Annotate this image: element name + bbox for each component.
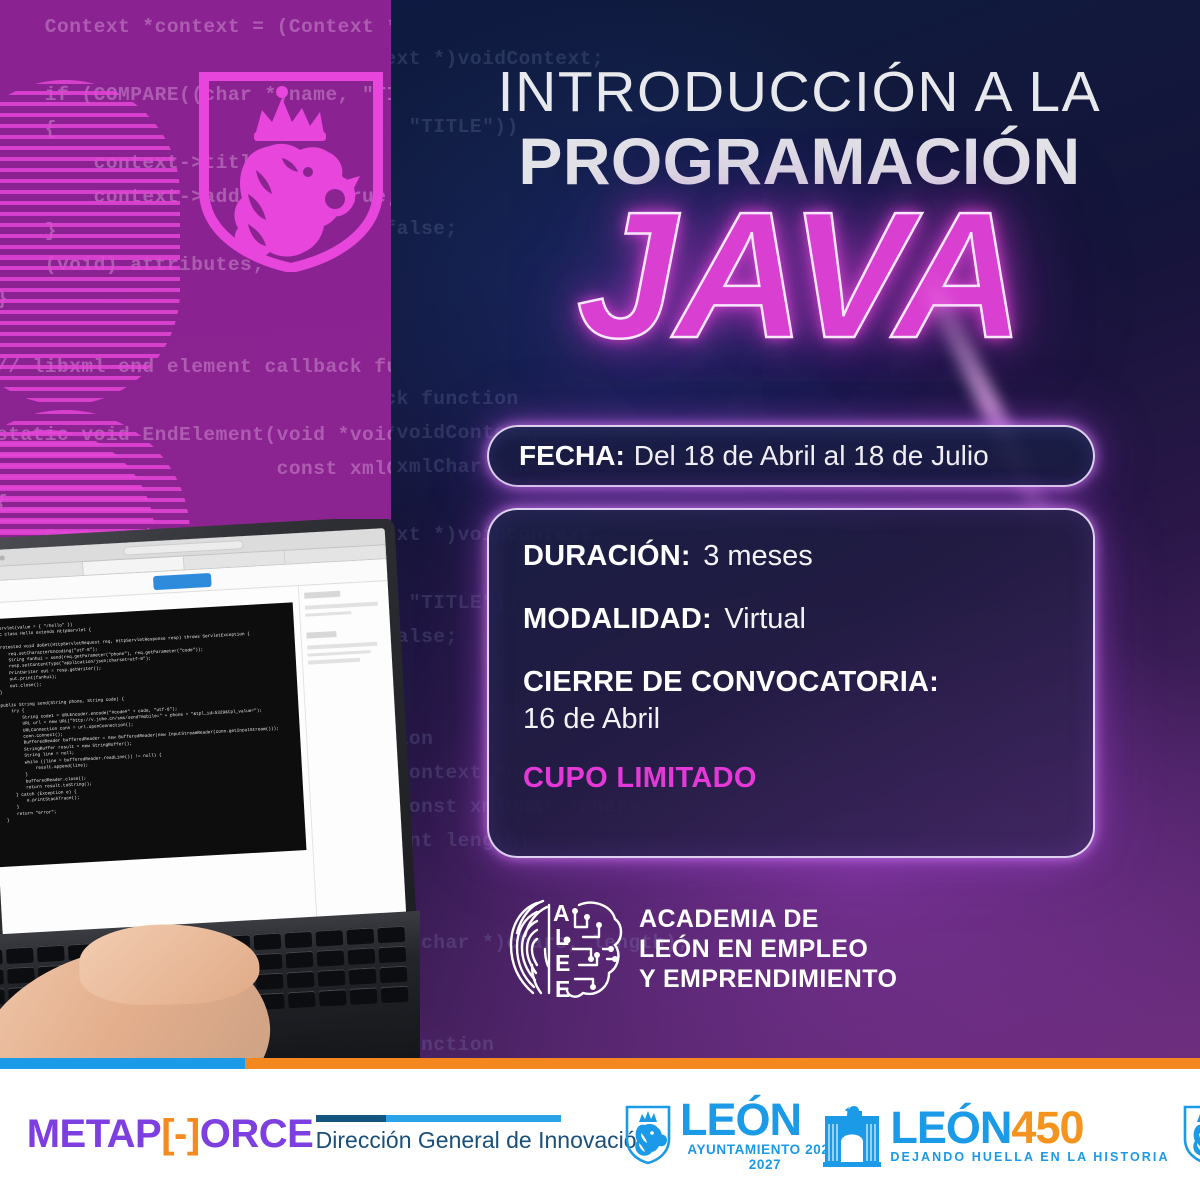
duracion-row: DURACIÓN: 3 meses xyxy=(523,540,1059,573)
fingerprint-brain-icon: A L E E xyxy=(503,893,623,1005)
modalidad-value: Virtual xyxy=(724,603,806,635)
leon-shield-lion-icon xyxy=(625,1105,671,1165)
leon450-shield-lion-icon xyxy=(1183,1105,1200,1165)
duracion-value: 3 meses xyxy=(703,540,813,572)
laptop-lid: @WebServlet(value = { "/hello" }) public… xyxy=(0,519,417,958)
metaphorce-post: ORCE xyxy=(200,1112,314,1156)
arch-monument-icon xyxy=(821,1102,883,1168)
modalidad-label: MODALIDAD: xyxy=(523,603,712,635)
leon450-logo: LEÓN450 DEJANDO HUELLA EN LA HISTORIA xyxy=(850,1102,1200,1168)
innovacion-text: Dirección General de Innovación xyxy=(316,1127,650,1154)
accent-bar-blue xyxy=(0,1058,245,1069)
duracion-label: DURACIÓN: xyxy=(523,540,691,572)
headline-block: INTRODUCCIÓN A LA PROGRAMACIÓN JAVA xyxy=(487,60,1112,364)
laptop-screen: @WebServlet(value = { "/hello" }) public… xyxy=(0,528,406,936)
metaphorce-logo: METAP[-]ORCE xyxy=(0,1112,340,1157)
code-editor-screenshot: @WebServlet(value = { "/hello" }) public… xyxy=(0,602,306,867)
fecha-panel: FECHA: Del 18 de Abril al 18 de Julio xyxy=(487,425,1095,487)
poster-root: { Context *context = (Context *)voidCont… xyxy=(0,0,1200,1200)
browser-sidebar xyxy=(298,581,406,919)
innovacion-bar xyxy=(316,1115,561,1122)
metaphorce-pre: METAP xyxy=(27,1112,162,1156)
cierre-row: CIERRE DE CONVOCATORIA: 16 de Abril xyxy=(523,666,1059,736)
browser-url-bar xyxy=(123,540,243,556)
browser-search-button xyxy=(153,573,212,590)
metaphorce-bracket: [-] xyxy=(161,1112,199,1156)
footer-logo-strip: METAP[-]ORCE Dirección General de Innova… xyxy=(0,1069,1200,1200)
browser-content: @WebServlet(value = { "/hello" }) public… xyxy=(0,581,406,936)
cierre-value: 16 de Abril xyxy=(523,703,1059,736)
leon450-subtitle: DEJANDO HUELLA EN LA HISTORIA xyxy=(890,1150,1169,1164)
leon-logo-block: LEÓN AYUNTAMIENTO 2024-2027 xyxy=(625,1098,850,1172)
code-editor-text: @WebServlet(value = { "/hello" }) public… xyxy=(0,611,299,833)
crowned-lion-shield-icon xyxy=(196,72,386,272)
fecha-value: Del 18 de Abril al 18 de Julio xyxy=(634,440,989,472)
innovacion-block: Dirección General de Innovación xyxy=(316,1115,650,1154)
leon450-text-block: LEÓN450 DEJANDO HUELLA EN LA HISTORIA xyxy=(890,1106,1169,1164)
alee-text-line-1: ACADEMIA DE xyxy=(639,904,897,934)
innovacion-logo: Dirección General de Innovación xyxy=(340,1115,625,1154)
cierre-label: CIERRE DE CONVOCATORIA: xyxy=(523,666,939,698)
alee-text-line-3: Y EMPRENDIMIENTO xyxy=(639,964,897,994)
details-panel: DURACIÓN: 3 meses MODALIDAD: Virtual CIE… xyxy=(487,508,1095,858)
metaphorce-wordmark: METAP[-]ORCE xyxy=(27,1112,314,1157)
leon450-name: LEÓN xyxy=(890,1102,1011,1153)
java-wordmark: JAVA xyxy=(577,186,1022,366)
accent-bar-orange xyxy=(245,1058,1200,1069)
alee-letter-a: A xyxy=(553,900,570,926)
alee-text-line-2: LEÓN EN EMPLEO xyxy=(639,934,897,964)
java-wordmark-wrap: JAVA xyxy=(487,194,1112,364)
accent-bar xyxy=(0,1058,1200,1069)
leon450-name-row: LEÓN450 xyxy=(890,1106,1169,1150)
headline-line-1: INTRODUCCIÓN A LA xyxy=(487,60,1112,124)
browser-main-column: @WebServlet(value = { "/hello" }) public… xyxy=(0,586,316,936)
alee-wordmark: ACADEMIA DE LEÓN EN EMPLEO Y EMPRENDIMIE… xyxy=(639,904,897,994)
leon-ayuntamiento-logo: LEÓN AYUNTAMIENTO 2024-2027 xyxy=(625,1098,850,1172)
leon450-logo-block: LEÓN450 DEJANDO HUELLA EN LA HISTORIA xyxy=(821,1102,1200,1168)
alee-letter-e1: E xyxy=(555,950,570,976)
cupo-limitado-text: CUPO LIMITADO xyxy=(523,762,757,794)
laptop-photo: @WebServlet(value = { "/hello" }) public… xyxy=(0,519,420,1058)
fecha-label: FECHA: xyxy=(519,440,625,472)
leon450-number: 450 xyxy=(1011,1102,1083,1153)
alee-letter-e2: E xyxy=(555,976,570,1002)
alee-logo: A L E E xyxy=(503,893,897,1005)
cupo-limitado-row: CUPO LIMITADO xyxy=(523,762,1059,795)
modalidad-row: MODALIDAD: Virtual xyxy=(523,603,1059,636)
